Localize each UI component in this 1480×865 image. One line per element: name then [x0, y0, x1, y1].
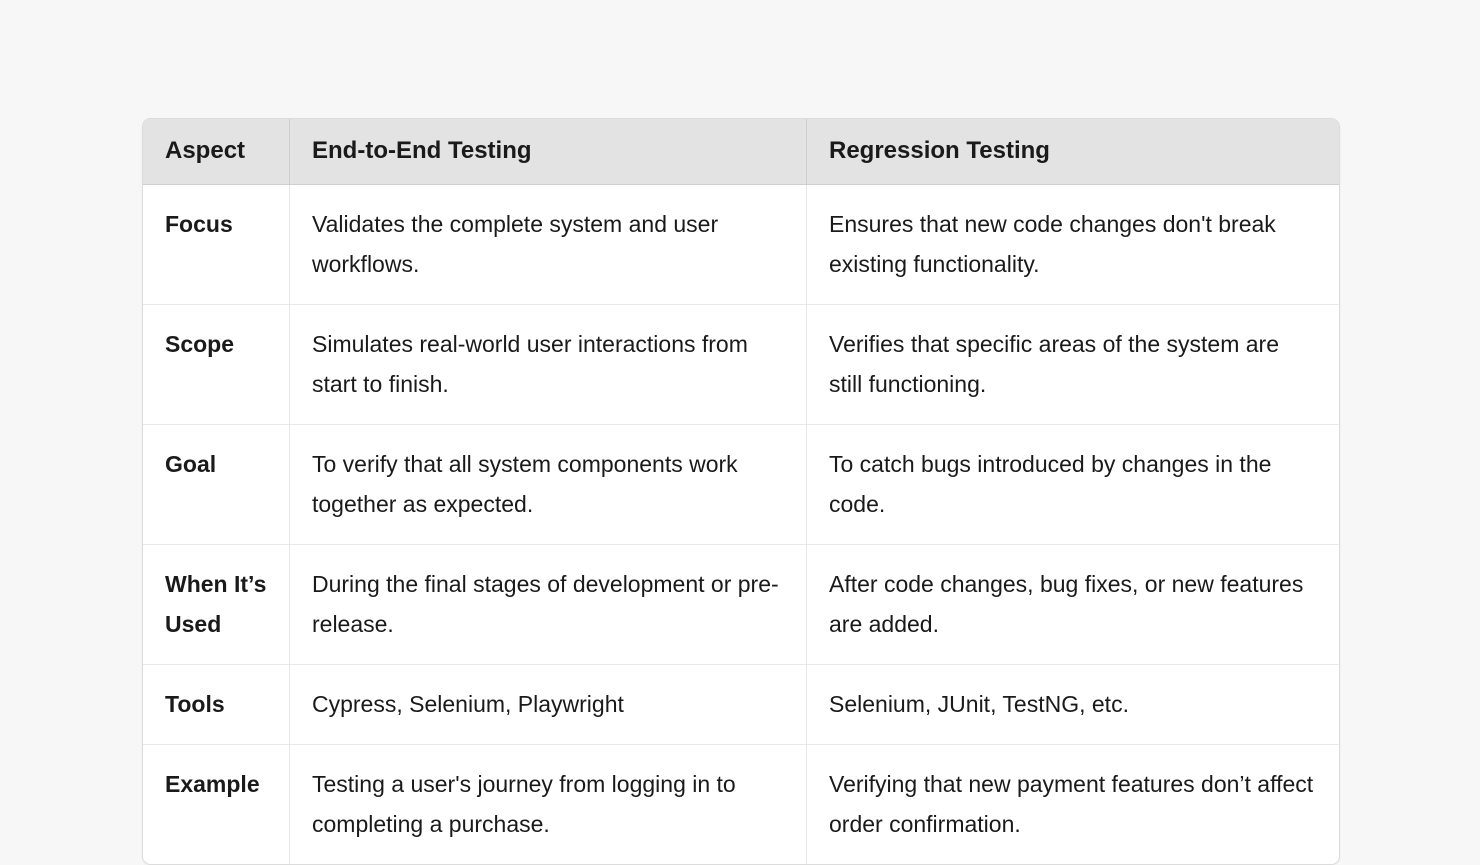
- column-header-aspect: Aspect: [143, 119, 289, 185]
- row-label-example: Example: [143, 745, 289, 864]
- row-label-tools: Tools: [143, 665, 289, 745]
- cell-when-its-used-end-to-end: During the final stages of development o…: [289, 545, 806, 665]
- row-label-focus: Focus: [143, 185, 289, 305]
- row-label-scope: Scope: [143, 305, 289, 425]
- cell-focus-end-to-end: Validates the complete system and user w…: [289, 185, 806, 305]
- table-body: Focus Validates the complete system and …: [143, 185, 1339, 864]
- cell-tools-regression: Selenium, JUnit, TestNG, etc.: [806, 665, 1339, 745]
- page-root: Aspect End-to-End Testing Regression Tes…: [0, 0, 1480, 829]
- cell-when-its-used-regression: After code changes, bug fixes, or new fe…: [806, 545, 1339, 665]
- table-row: Scope Simulates real-world user interact…: [143, 305, 1339, 425]
- row-label-when-its-used: When It’s Used: [143, 545, 289, 665]
- table-row: Tools Cypress, Selenium, Playwright Sele…: [143, 665, 1339, 745]
- cell-scope-end-to-end: Simulates real-world user interactions f…: [289, 305, 806, 425]
- cell-example-end-to-end: Testing a user's journey from logging in…: [289, 745, 806, 864]
- column-header-regression-testing: Regression Testing: [806, 119, 1339, 185]
- table-header-row: Aspect End-to-End Testing Regression Tes…: [143, 119, 1339, 185]
- table-row: Goal To verify that all system component…: [143, 425, 1339, 545]
- cell-scope-regression: Verifies that specific areas of the syst…: [806, 305, 1339, 425]
- table-row: Example Testing a user's journey from lo…: [143, 745, 1339, 864]
- column-header-end-to-end-testing: End-to-End Testing: [289, 119, 806, 185]
- table-header: Aspect End-to-End Testing Regression Tes…: [143, 119, 1339, 185]
- cell-goal-regression: To catch bugs introduced by changes in t…: [806, 425, 1339, 545]
- cell-goal-end-to-end: To verify that all system components wor…: [289, 425, 806, 545]
- table-row: Focus Validates the complete system and …: [143, 185, 1339, 305]
- table-row: When It’s Used During the final stages o…: [143, 545, 1339, 665]
- comparison-table: Aspect End-to-End Testing Regression Tes…: [142, 118, 1340, 865]
- cell-focus-regression: Ensures that new code changes don't brea…: [806, 185, 1339, 305]
- comparison-table-container: Aspect End-to-End Testing Regression Tes…: [142, 118, 1338, 865]
- row-label-goal: Goal: [143, 425, 289, 545]
- cell-example-regression: Verifying that new payment features don’…: [806, 745, 1339, 864]
- cell-tools-end-to-end: Cypress, Selenium, Playwright: [289, 665, 806, 745]
